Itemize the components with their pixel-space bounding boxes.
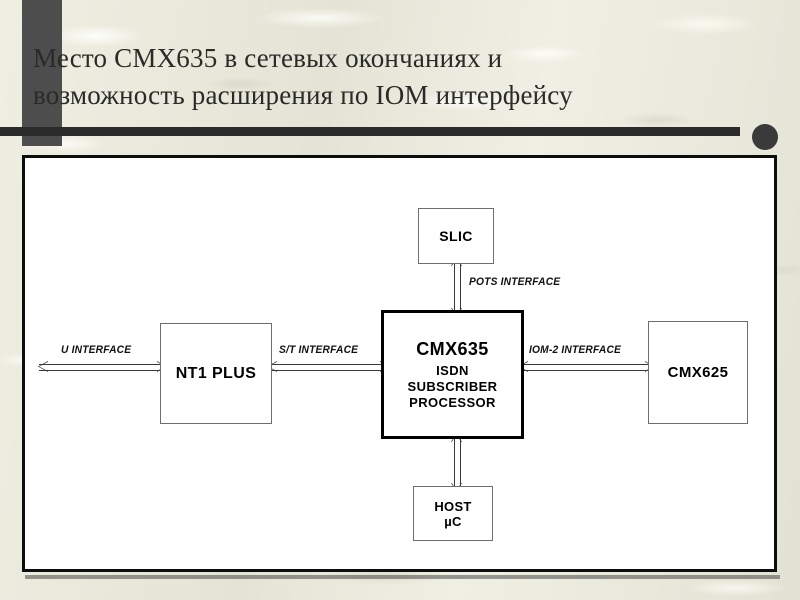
arrow-st-interface [268,361,388,372]
arrow-rail [39,364,165,371]
label-iom2-interface: IOM-2 INTERFACE [529,344,621,356]
block-cmx635-line3: SUBSCRIBER [408,379,498,395]
block-slic-label: SLIC [439,228,473,244]
block-nt1-plus-label: NT1 PLUS [176,365,257,383]
block-cmx635: CMX635 ISDN SUBSCRIBER PROCESSOR [381,310,524,439]
block-cmx625-label: CMX625 [668,364,729,381]
page-title: Место CMX635 в сетевых окончаниях и возм… [33,40,773,114]
block-host-mcu-line1: HOST [434,499,471,514]
arrow-u-interface [39,361,165,372]
label-st-interface: S/T INTERFACE [279,344,358,356]
block-host-mcu: HOST µC [413,486,493,541]
block-cmx635-line1: CMX635 [416,339,488,360]
block-cmx625: CMX625 [648,321,748,424]
label-u-interface: U INTERFACE [61,344,131,356]
diagram-panel: U INTERFACE S/T INTERFACE IOM-2 INTERFAC… [22,155,777,572]
arrow-iom2-interface [519,361,653,372]
diagram-panel-shadow [25,575,780,579]
block-host-mcu-line2: µC [444,514,461,529]
block-nt1-plus: NT1 PLUS [160,323,272,424]
arrow-host-link [451,434,462,491]
arrow-pots-interface [451,258,462,316]
block-cmx635-line2: ISDN [436,363,469,379]
arrow-rail [519,364,653,371]
arrow-rail [268,364,388,371]
arrow-rail [454,258,461,316]
block-slic: SLIC [418,208,494,264]
block-cmx635-line4: PROCESSOR [409,395,496,411]
title-bullet-dot [752,124,778,150]
title-underline-rule [0,127,740,136]
label-pots-interface: POTS INTERFACE [469,276,560,288]
arrow-rail [454,434,461,491]
